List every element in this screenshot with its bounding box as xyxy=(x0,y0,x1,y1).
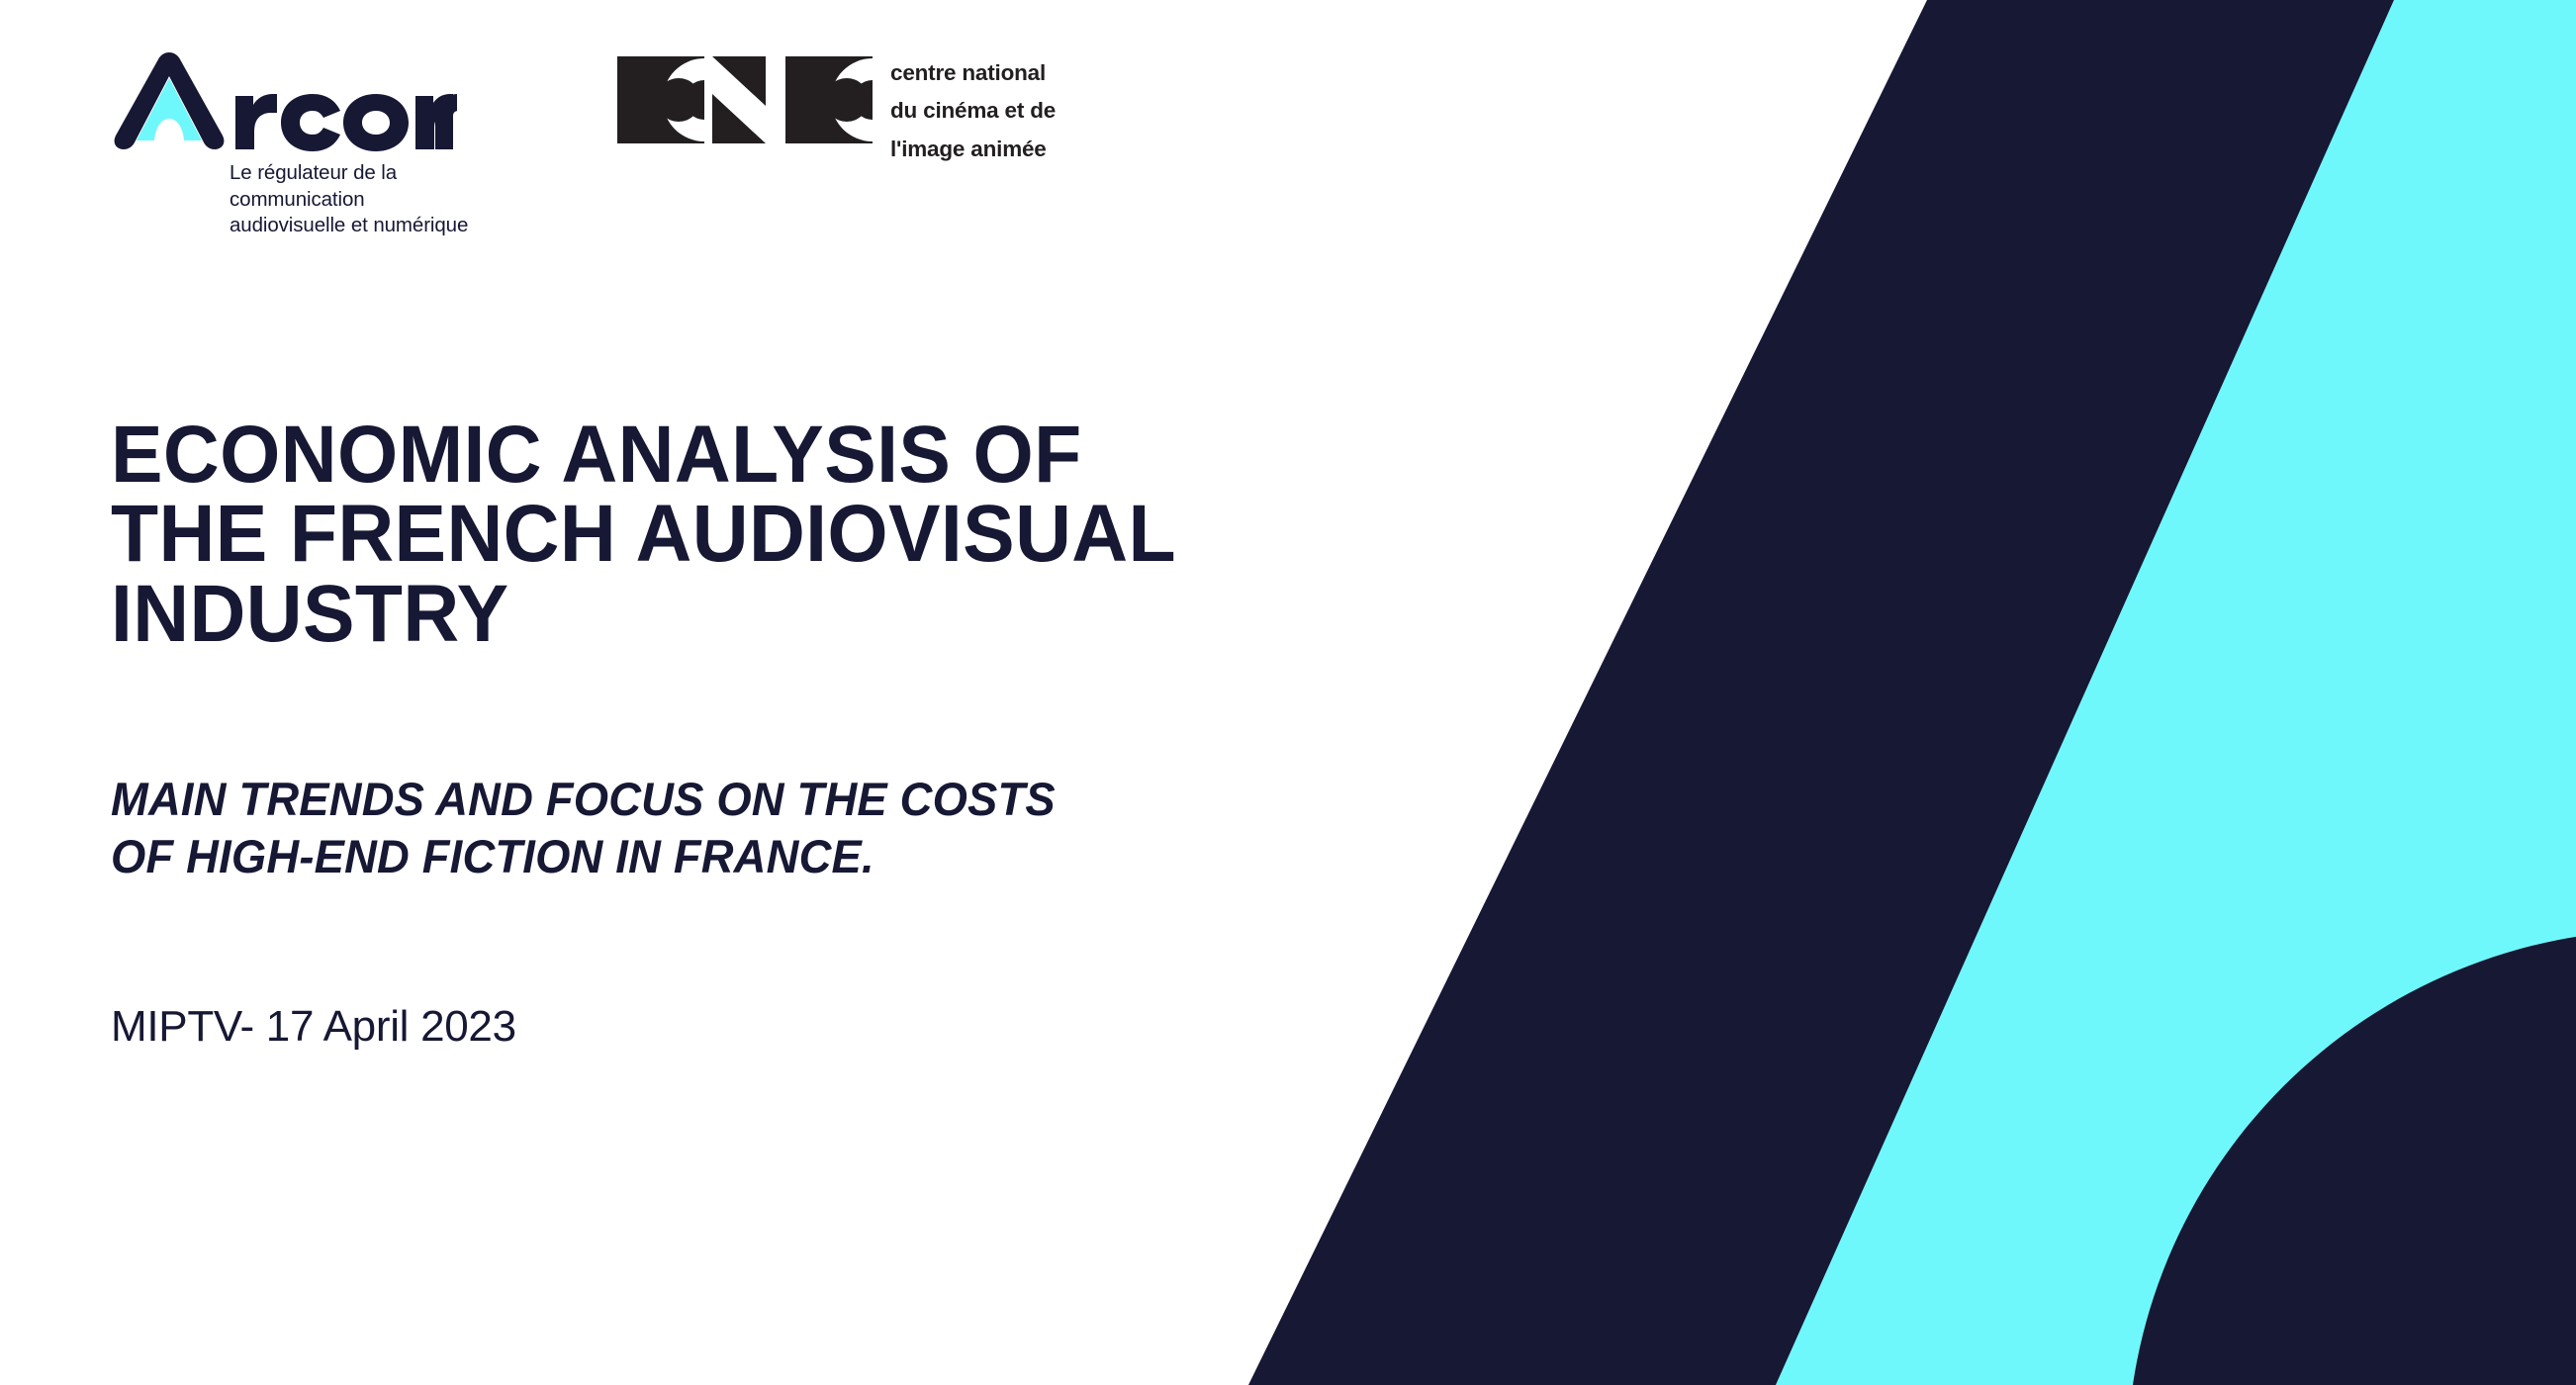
page-title: ECONOMIC ANALYSIS OF THE FRENCH AUDIOVIS… xyxy=(111,415,1364,654)
arcom-letters-icon xyxy=(231,72,457,151)
cnc-tagline: centre national du cinéma et de l'image … xyxy=(890,54,1056,168)
arcom-a-mark-icon xyxy=(111,48,228,151)
logo-row: Le régulateur de la communication audiov… xyxy=(111,45,1056,239)
cnc-logo: centre national du cinéma et de l'image … xyxy=(617,56,1056,168)
arcom-tagline: Le régulateur de la communication audiov… xyxy=(230,160,526,239)
bottom-right-navy-circle xyxy=(2127,930,2576,1385)
slide-text-block: ECONOMIC ANALYSIS OF THE FRENCH AUDIOVIS… xyxy=(111,415,1417,1052)
cnc-mark-icon xyxy=(617,56,873,143)
event-date: MIPTV- 17 April 2023 xyxy=(111,885,1417,1052)
diagonal-cyan-band xyxy=(1776,0,2576,1385)
arcom-wordmark xyxy=(111,45,526,151)
cnc-letter-c-second xyxy=(785,56,873,143)
diagonal-navy-band xyxy=(1248,0,2394,1385)
presentation-slide: Le régulateur de la communication audiov… xyxy=(0,0,2576,1385)
arcom-logo: Le régulateur de la communication audiov… xyxy=(111,45,526,239)
slide-subtitle: MAIN TRENDS AND FOCUS ON THE COSTS OF HI… xyxy=(111,654,1371,885)
cnc-letter-n xyxy=(712,56,766,143)
cnc-letter-c-first xyxy=(617,56,704,143)
